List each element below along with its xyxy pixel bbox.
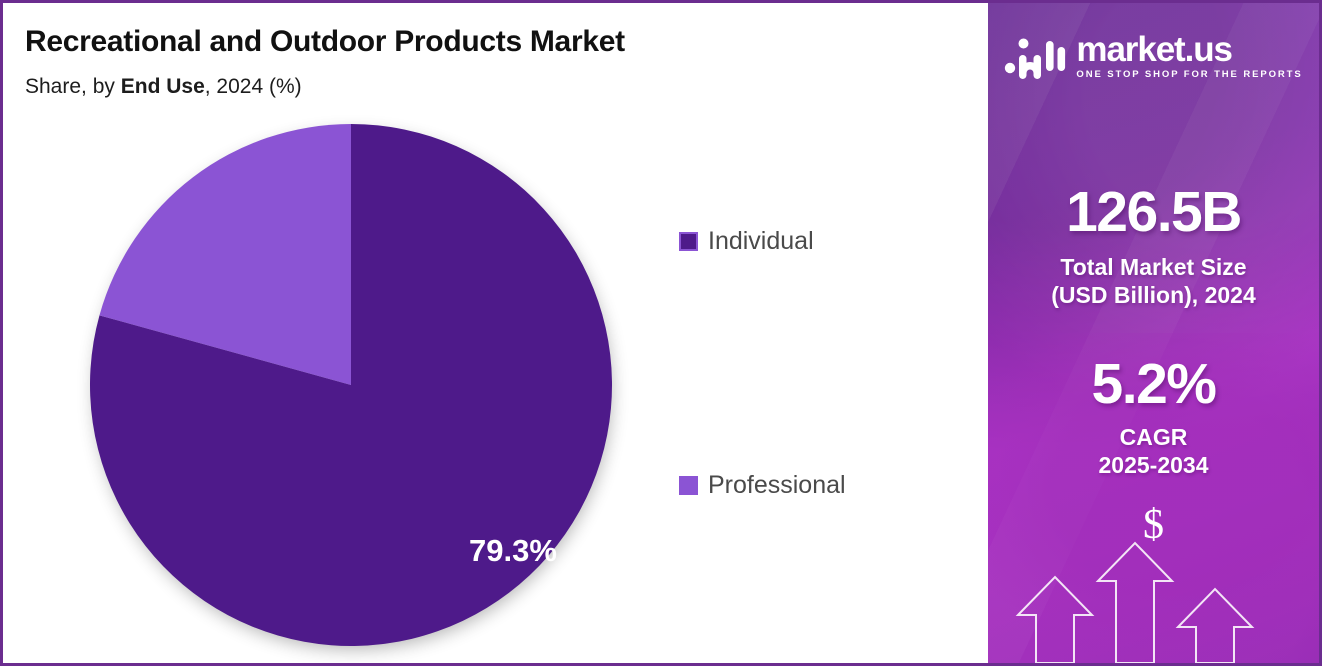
legend-swatch-professional — [679, 476, 698, 495]
subtitle-part-2: , 2024 (%) — [205, 75, 302, 98]
cagr-label-line1: CAGR — [1120, 424, 1188, 450]
brand-text: market.us ONE STOP SHOP FOR THE REPORTS — [1076, 33, 1302, 80]
chart-subtitle: Share, by End Use, 2024 (%) — [25, 75, 302, 99]
dollar-sign-icon: $ — [988, 501, 1319, 549]
growth-arrows-decoration: $ — [988, 493, 1319, 663]
brand-name: market.us — [1076, 33, 1231, 66]
market-us-logo-icon — [1004, 35, 1066, 79]
cagr-label-line2: 2025-2034 — [1099, 452, 1209, 478]
legend-item-professional[interactable]: Professional — [679, 471, 846, 500]
chart-area: Recreational and Outdoor Products Market… — [3, 3, 991, 663]
cagr-value: 5.2% — [988, 351, 1319, 417]
pie-chart: 79.3% — [89, 123, 617, 651]
cagr-label: CAGR 2025-2034 — [988, 423, 1319, 479]
market-size-value: 126.5B — [988, 179, 1319, 245]
market-size-label: Total Market Size (USD Billion), 2024 — [988, 253, 1319, 309]
market-size-label-line1: Total Market Size — [1060, 254, 1246, 280]
legend-item-individual[interactable]: Individual — [679, 227, 814, 256]
brand-tagline: ONE STOP SHOP FOR THE REPORTS — [1076, 69, 1302, 80]
stats-side-panel: market.us ONE STOP SHOP FOR THE REPORTS … — [988, 3, 1319, 663]
page-title: Recreational and Outdoor Products Market — [25, 25, 625, 59]
legend-label-professional: Professional — [708, 471, 846, 500]
subtitle-emphasis: End Use — [121, 75, 205, 98]
pie-slice-label-individual: 79.3% — [469, 533, 557, 569]
subtitle-part-1: Share, by — [25, 75, 121, 98]
infographic-frame: Recreational and Outdoor Products Market… — [0, 0, 1322, 666]
legend-label-individual: Individual — [708, 227, 814, 256]
legend-swatch-individual — [679, 232, 698, 251]
brand-logo: market.us ONE STOP SHOP FOR THE REPORTS — [988, 33, 1319, 80]
market-size-label-line2: (USD Billion), 2024 — [1051, 282, 1255, 308]
